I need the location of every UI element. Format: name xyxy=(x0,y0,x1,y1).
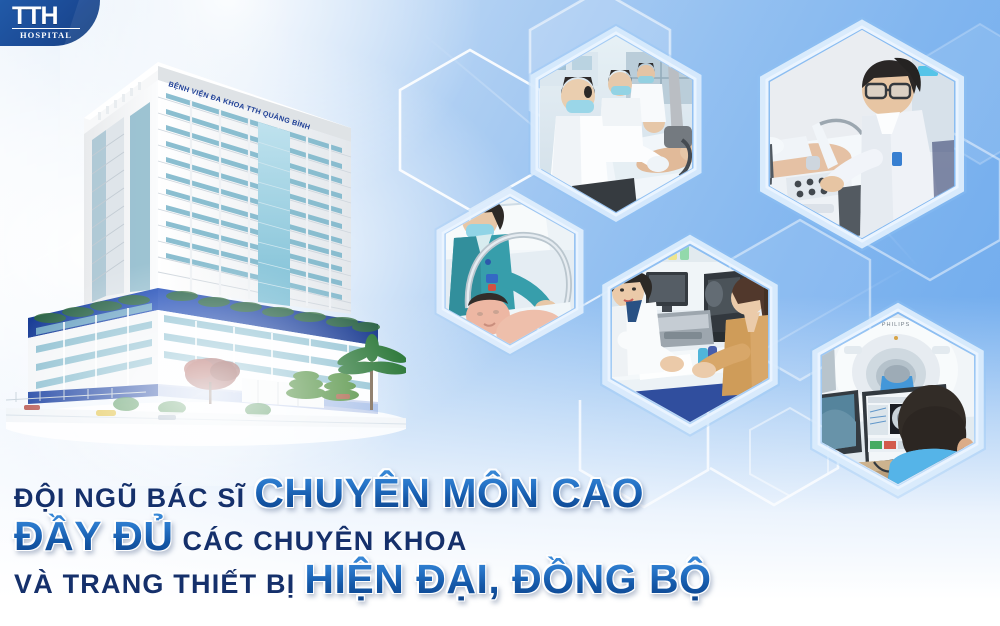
headline-line2-emphasis: ĐẦY ĐỦ xyxy=(14,513,173,559)
tth-hospital-logo[interactable]: TTH HOSPITAL xyxy=(0,0,100,46)
headline-line1-emphasis: CHUYÊN MÔN CAO xyxy=(254,470,644,516)
hospital-building-illustration: BỆNH VIỆN ĐA KHOA TTH QUẢNG BÌNH xyxy=(6,56,406,446)
headline-line1-thin: ĐỘI NGŨ BÁC SĨ xyxy=(14,483,245,513)
headline-line3-thin: VÀ TRANG THIẾT BỊ xyxy=(14,569,295,599)
photo-consultation xyxy=(586,236,794,444)
headline-line-1: ĐỘI NGŨ BÁC SĨCHUYÊN MÔN CAO xyxy=(14,473,712,514)
headline-line-3: VÀ TRANG THIẾT BỊHIỆN ĐẠI, ĐỒNG BỘ xyxy=(14,559,712,600)
banner-canvas: TTH HOSPITAL xyxy=(0,0,1000,626)
headline-line-2: ĐẦY ĐỦCÁC CHUYÊN KHOA xyxy=(14,516,712,557)
photo-ultrasound xyxy=(742,22,982,262)
photo-card-newborn-care[interactable] xyxy=(424,190,596,378)
logo-wordmark: TTH xyxy=(12,4,58,29)
headline-line3-emphasis: HIỆN ĐẠI, ĐỒNG BỘ xyxy=(304,556,711,602)
logo-tagline: HOSPITAL xyxy=(12,28,80,40)
headline-block: ĐỘI NGŨ BÁC SĨCHUYÊN MÔN CAO ĐẦY ĐỦCÁC C… xyxy=(14,473,712,600)
photo-card-consultation[interactable] xyxy=(586,236,794,458)
headline-line2-thin: CÁC CHUYÊN KHOA xyxy=(182,526,467,556)
photo-card-mri-scan[interactable]: PHILIPS xyxy=(796,304,1000,522)
photo-newborn-care xyxy=(424,190,596,362)
